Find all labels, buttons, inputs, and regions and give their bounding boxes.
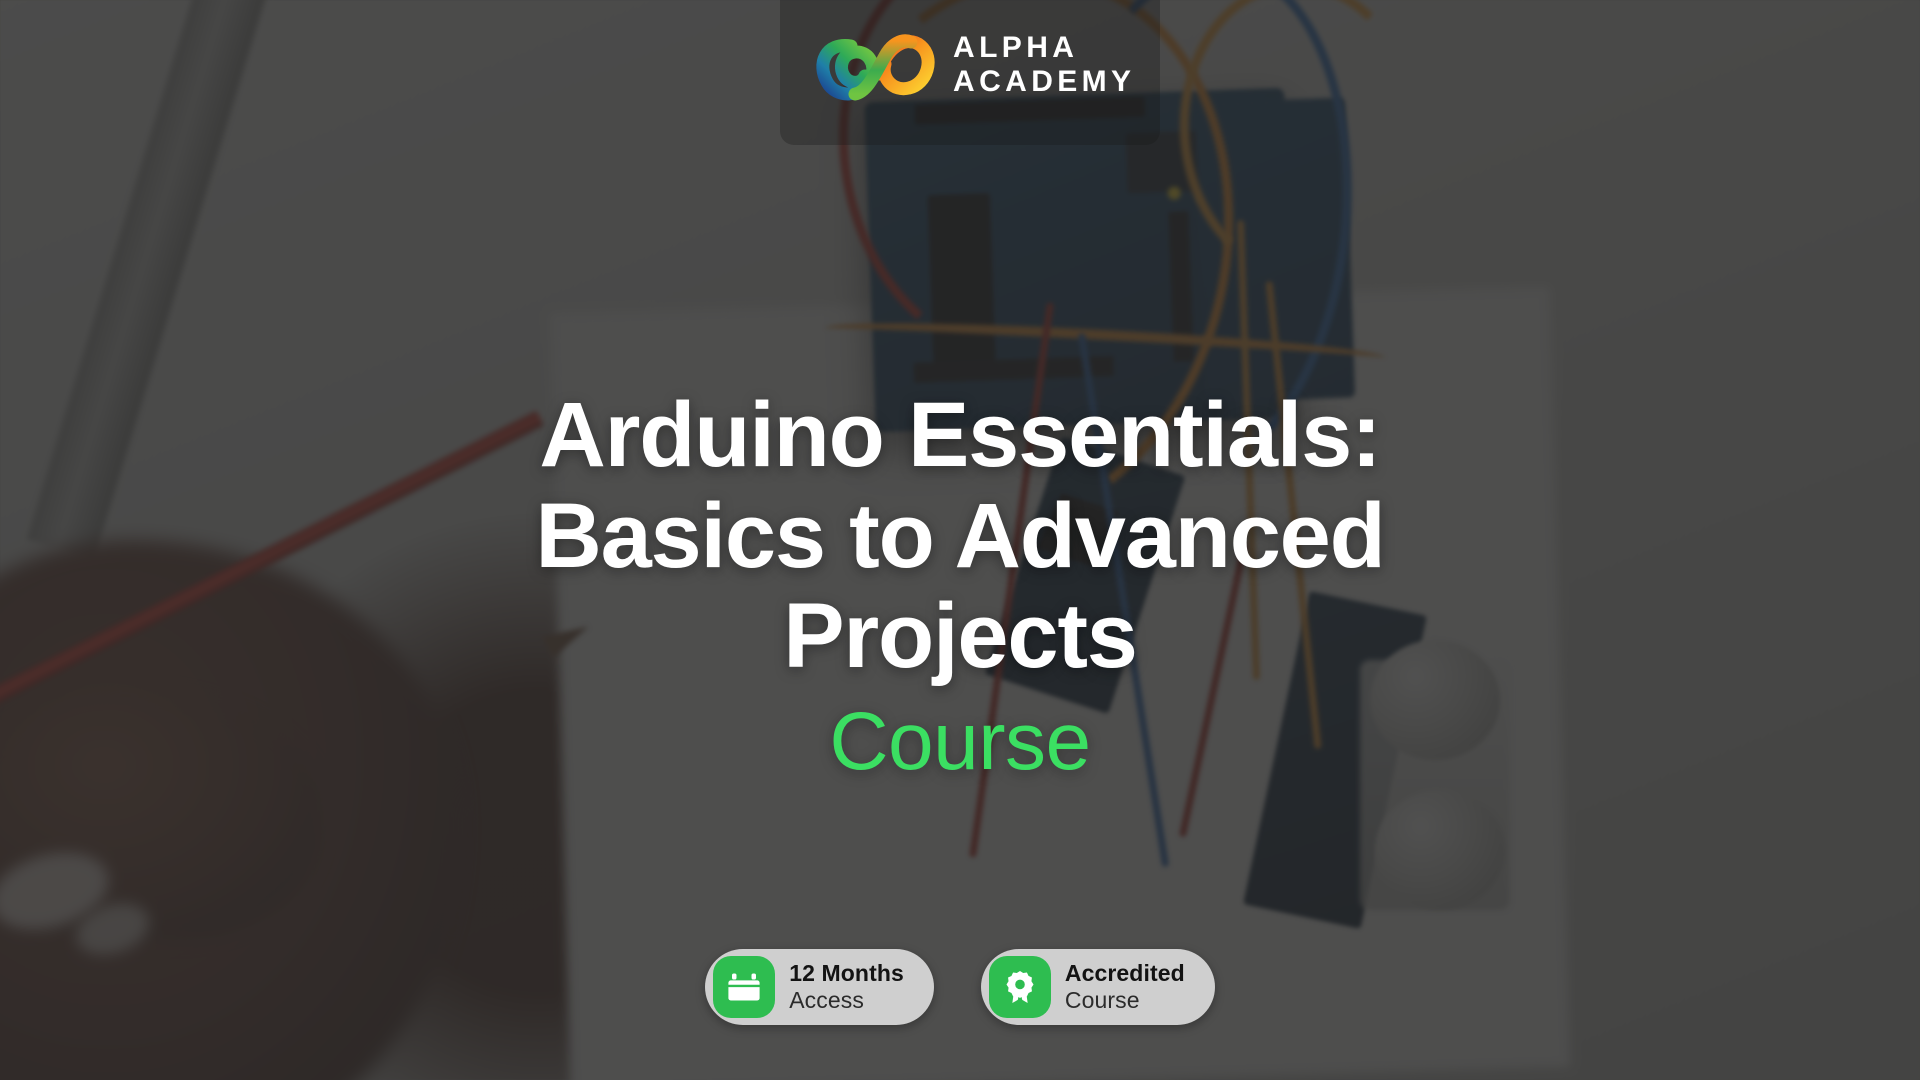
badge-accredited-line2: Course [1065, 987, 1185, 1014]
calendar-icon [713, 956, 775, 1018]
title-line-3: Projects [150, 586, 1770, 687]
feature-badges: 12 Months Access Accredited Course [0, 949, 1920, 1025]
hero-subtitle: Course [150, 699, 1770, 785]
brand-name-line1: ALPHA [953, 31, 1135, 65]
brand-name-line2: ACADEMY [953, 65, 1135, 99]
hero-headline: Arduino Essentials: Basics to Advanced P… [0, 385, 1920, 785]
badge-accredited-line1: Accredited [1065, 960, 1185, 987]
badge-accredited[interactable]: Accredited Course [981, 949, 1215, 1025]
alpha-academy-infinity-logo [815, 22, 935, 108]
badge-access[interactable]: 12 Months Access [705, 949, 934, 1025]
badge-access-text: 12 Months Access [789, 960, 904, 1014]
badge-accredited-text: Accredited Course [1065, 960, 1185, 1014]
badge-access-line2: Access [789, 987, 904, 1014]
title-line-2: Basics to Advanced [150, 486, 1770, 587]
brand-logo[interactable]: ALPHA ACADEMY [815, 22, 1135, 108]
brand-wordmark: ALPHA ACADEMY [953, 31, 1135, 98]
title-line-1: Arduino Essentials: [150, 385, 1770, 486]
award-ribbon-icon [989, 956, 1051, 1018]
badge-access-line1: 12 Months [789, 960, 904, 987]
promo-hero-banner: ALPHA ACADEMY Arduino Essentials: Basics… [0, 0, 1920, 1080]
